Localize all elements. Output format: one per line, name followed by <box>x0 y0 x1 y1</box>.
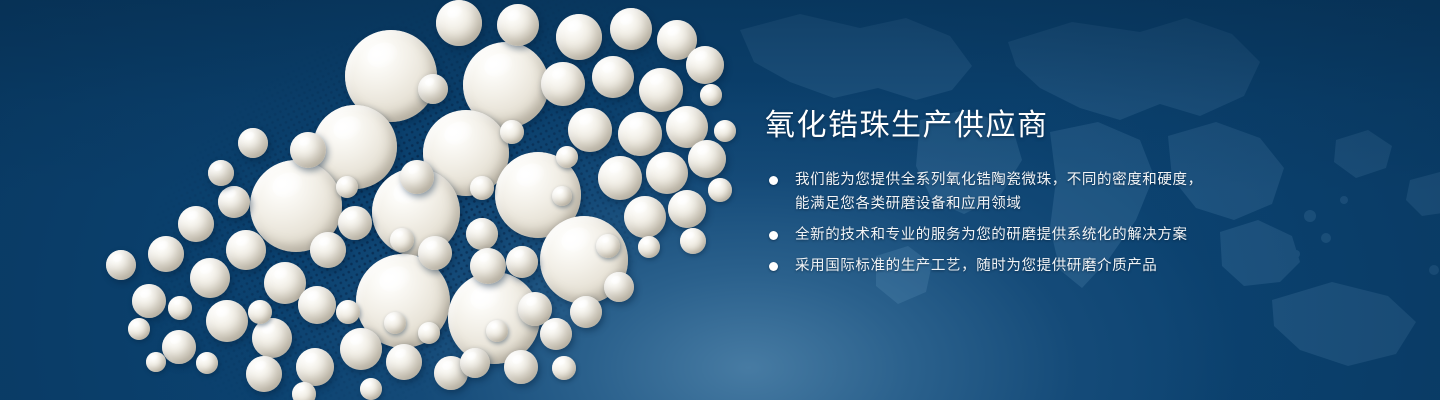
banner-copy: 氧化锆珠生产供应商 我们能为您提供全系列氧化锆陶瓷微珠，不同的密度和硬度， 能满… <box>765 106 1365 278</box>
list-item: 全新的技术和专业的服务为您的研磨提供系统化的解决方案 <box>765 223 1365 247</box>
bullet-line: 能满足您各类研磨设备和应用领域 <box>795 192 1365 216</box>
bullet-dot-icon <box>769 262 778 271</box>
list-item: 采用国际标准的生产工艺，随时为您提供研磨介质产品 <box>765 254 1365 278</box>
banner-headline: 氧化锆珠生产供应商 <box>765 106 1365 146</box>
bullet-line: 采用国际标准的生产工艺，随时为您提供研磨介质产品 <box>795 254 1365 278</box>
banner-feature-list: 我们能为您提供全系列氧化锆陶瓷微珠，不同的密度和硬度， 能满足您各类研磨设备和应… <box>765 168 1365 278</box>
bullet-dot-icon <box>769 231 778 240</box>
bullet-dot-icon <box>769 176 778 185</box>
list-item: 我们能为您提供全系列氧化锆陶瓷微珠，不同的密度和硬度， 能满足您各类研磨设备和应… <box>765 168 1365 216</box>
hero-banner: 氧化锆珠生产供应商 我们能为您提供全系列氧化锆陶瓷微珠，不同的密度和硬度， 能满… <box>0 0 1440 400</box>
bullet-line: 我们能为您提供全系列氧化锆陶瓷微珠，不同的密度和硬度， <box>795 168 1365 192</box>
bullet-line: 全新的技术和专业的服务为您的研磨提供系统化的解决方案 <box>795 223 1365 247</box>
